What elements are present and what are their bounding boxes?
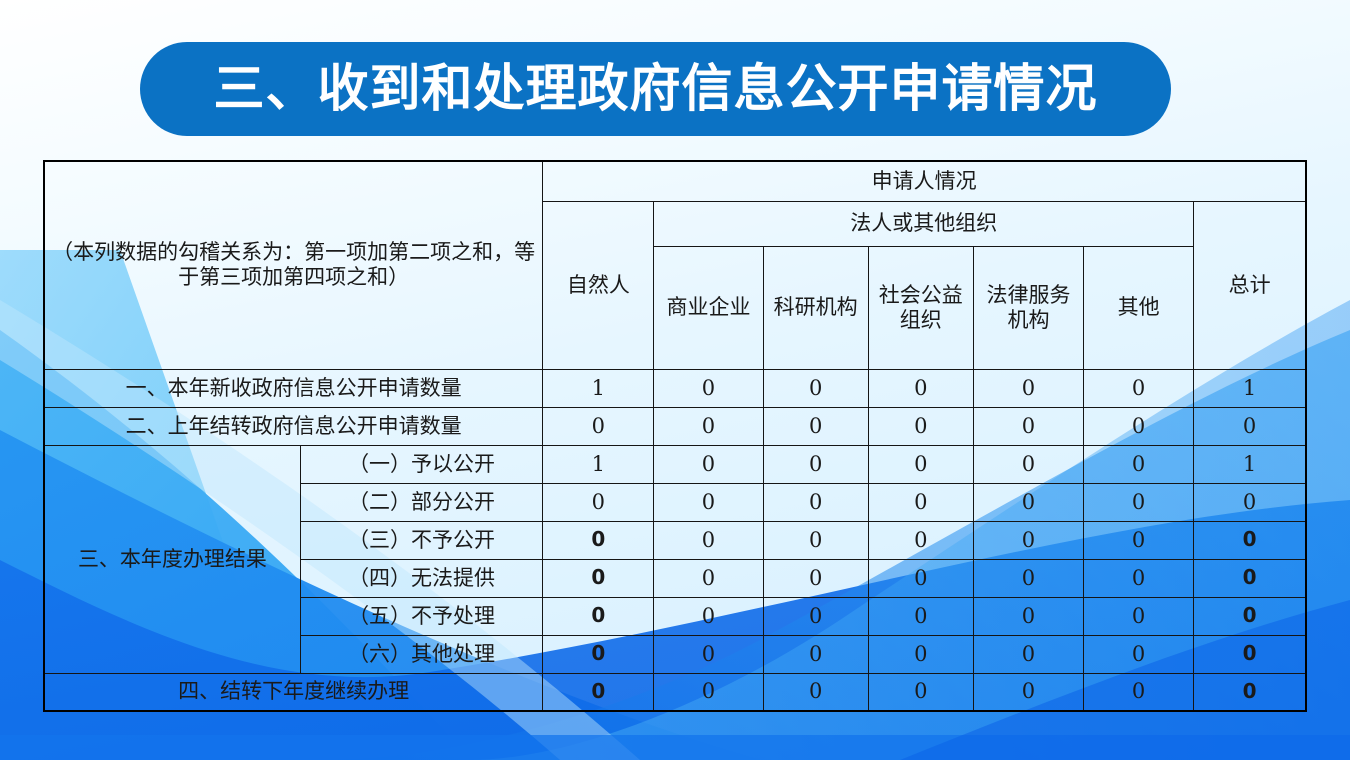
cell-value: 0	[543, 635, 654, 673]
cell-value: 0	[973, 445, 1083, 483]
cell-value: 0	[763, 407, 868, 445]
table-row: 三、本年度办理结果 （一）予以公开 1 0 0 0 0 0 1	[44, 445, 1306, 483]
cell-value: 0	[1084, 445, 1194, 483]
cell-value: 0	[1084, 407, 1194, 445]
cell-value: 0	[1084, 673, 1194, 711]
cell-value: 0	[973, 559, 1083, 597]
applicant-group-header: 申请人情况	[543, 161, 1306, 201]
row-label-not-disclosed: （三）不予公开	[300, 521, 542, 559]
cell-value: 0	[973, 369, 1083, 407]
cell-value: 1	[543, 369, 654, 407]
cell-value: 0	[1194, 597, 1306, 635]
cell-value: 0	[763, 673, 868, 711]
cell-value: 0	[654, 597, 763, 635]
cell-value: 0	[1194, 483, 1306, 521]
title-pill: 三、收到和处理政府信息公开申请情况	[140, 42, 1171, 136]
cell-value: 0	[763, 559, 868, 597]
cell-value: 0	[1084, 559, 1194, 597]
cell-value: 0	[654, 635, 763, 673]
cell-value: 0	[973, 407, 1083, 445]
cell-value: 1	[543, 445, 654, 483]
cell-value: 0	[763, 369, 868, 407]
cell-value: 0	[763, 445, 868, 483]
table-row: 四、结转下年度继续办理 0 0 0 0 0 0 0	[44, 673, 1306, 711]
column-header-total: 总计	[1194, 201, 1306, 369]
cell-value: 0	[973, 483, 1083, 521]
column-header-research-institution: 科研机构	[763, 246, 868, 369]
cell-value: 0	[1084, 597, 1194, 635]
cell-value: 1	[1194, 369, 1306, 407]
corner-note-cell: （本列数据的勾稽关系为：第一项加第二项之和，等于第三项加第四项之和）	[44, 161, 543, 369]
cell-value: 0	[543, 673, 654, 711]
cell-value: 0	[1194, 559, 1306, 597]
cell-value: 0	[868, 635, 973, 673]
cell-value: 0	[1194, 521, 1306, 559]
cell-value: 0	[543, 597, 654, 635]
page-title-banner: 三、收到和处理政府信息公开申请情况	[140, 42, 1171, 136]
cell-value: 0	[654, 673, 763, 711]
table-header-row-1: （本列数据的勾稽关系为：第一项加第二项之和，等于第三项加第四项之和） 申请人情况	[44, 161, 1306, 201]
cell-value: 0	[763, 483, 868, 521]
cell-value: 0	[1084, 483, 1194, 521]
cell-value: 0	[868, 673, 973, 711]
cell-value: 0	[868, 407, 973, 445]
cell-value: 0	[654, 483, 763, 521]
cell-value: 0	[868, 445, 973, 483]
row-label-other-processing: （六）其他处理	[300, 635, 542, 673]
cell-value: 0	[654, 445, 763, 483]
column-header-social-welfare-org: 社会公益组织	[868, 246, 973, 369]
cell-value: 0	[1084, 635, 1194, 673]
cell-value: 0	[1084, 369, 1194, 407]
cell-value: 0	[973, 635, 1083, 673]
row-label-new-received: 一、本年新收政府信息公开申请数量	[44, 369, 543, 407]
row-label-disclosed: （一）予以公开	[300, 445, 542, 483]
cell-value: 0	[763, 597, 868, 635]
column-header-commercial-enterprise: 商业企业	[654, 246, 763, 369]
report-table-container: （本列数据的勾稽关系为：第一项加第二项之和，等于第三项加第四项之和） 申请人情况…	[43, 160, 1307, 712]
column-header-natural-person: 自然人	[543, 201, 654, 369]
cell-value: 1	[1194, 445, 1306, 483]
legal-entity-group-header: 法人或其他组织	[654, 201, 1194, 246]
cell-value: 0	[868, 559, 973, 597]
row-label-carried-to-next-year: 四、结转下年度继续办理	[44, 673, 543, 711]
cell-value: 0	[654, 559, 763, 597]
cell-value: 0	[973, 597, 1083, 635]
cell-value: 0	[973, 673, 1083, 711]
cell-value: 0	[868, 483, 973, 521]
cell-value: 0	[1194, 635, 1306, 673]
row-label-partially-disclosed: （二）部分公开	[300, 483, 542, 521]
table-row: 二、上年结转政府信息公开申请数量 0 0 0 0 0 0 0	[44, 407, 1306, 445]
cell-value: 0	[1084, 521, 1194, 559]
row-group-label-processing-results: 三、本年度办理结果	[44, 445, 300, 673]
cell-value: 0	[763, 521, 868, 559]
cell-value: 0	[868, 369, 973, 407]
cell-value: 0	[1194, 673, 1306, 711]
page-title: 三、收到和处理政府信息公开申请情况	[213, 64, 1097, 115]
cell-value: 0	[654, 369, 763, 407]
column-header-legal-service-org: 法律服务机构	[973, 246, 1083, 369]
cell-value: 0	[543, 521, 654, 559]
cell-value: 0	[763, 635, 868, 673]
row-label-unable-to-provide: （四）无法提供	[300, 559, 542, 597]
cell-value: 0	[1194, 407, 1306, 445]
row-label-not-processed: （五）不予处理	[300, 597, 542, 635]
cell-value: 0	[973, 521, 1083, 559]
cell-value: 0	[543, 559, 654, 597]
information-disclosure-request-table: （本列数据的勾稽关系为：第一项加第二项之和，等于第三项加第四项之和） 申请人情况…	[43, 160, 1307, 712]
cell-value: 0	[543, 483, 654, 521]
cell-value: 0	[654, 521, 763, 559]
cell-value: 0	[654, 407, 763, 445]
cell-value: 0	[543, 407, 654, 445]
cell-value: 0	[868, 597, 973, 635]
column-header-other: 其他	[1084, 246, 1194, 369]
table-row: 一、本年新收政府信息公开申请数量 1 0 0 0 0 0 1	[44, 369, 1306, 407]
cell-value: 0	[868, 521, 973, 559]
row-label-carried-over-prior-year: 二、上年结转政府信息公开申请数量	[44, 407, 543, 445]
